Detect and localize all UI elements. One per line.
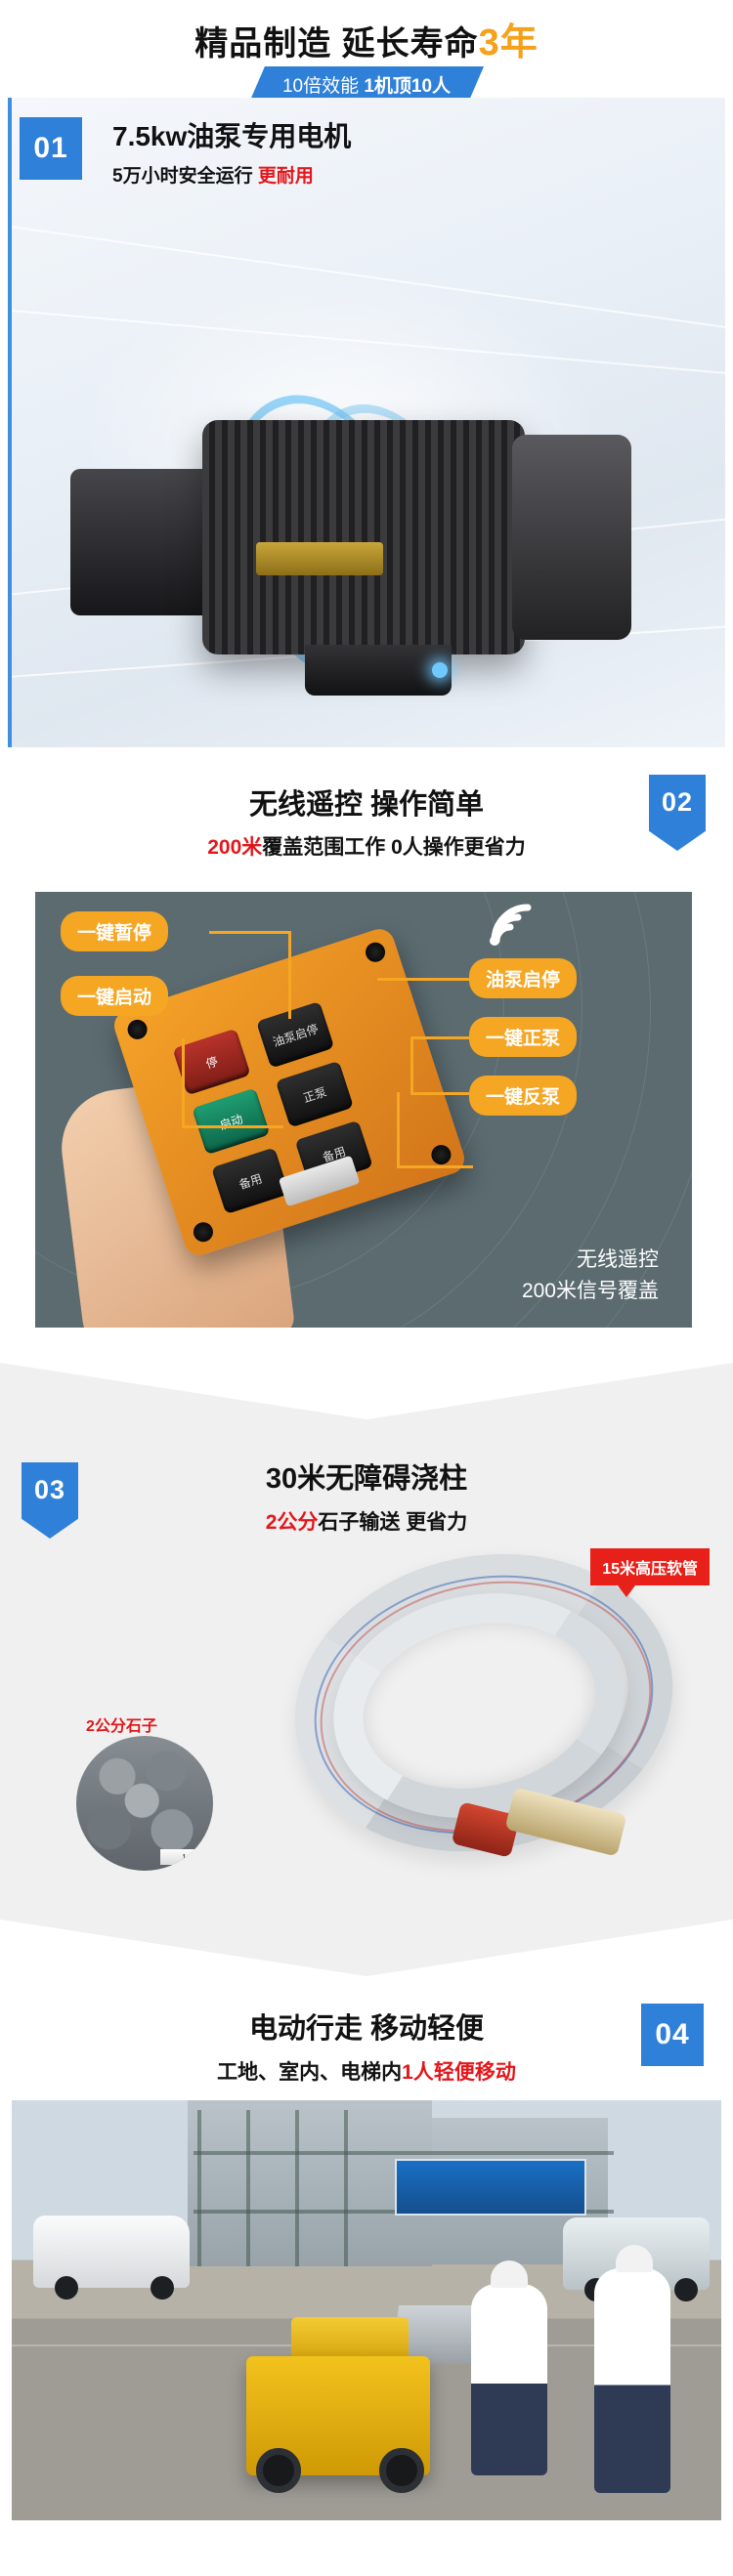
section-badge-04: 04 (641, 2004, 704, 2066)
motor-mount-foot (305, 645, 452, 696)
ruler-mark-1: 1 (182, 1853, 186, 1862)
callout-leader (397, 1092, 400, 1168)
gravel-photo: 1 2 (76, 1736, 213, 1871)
section-03-subheading: 2公分石子输送 更省力 (0, 1506, 733, 1536)
machine-wheel (256, 2448, 301, 2493)
motor-product-photo (8, 98, 725, 747)
page-title-accent: 3年 (479, 22, 539, 63)
callout-start: 一键启动 (61, 976, 168, 1016)
remote-control-photo: 停 油泵启停 启动 正泵 备用 备用 一键暂停 一键启动 油泵启停 一键正泵 一… (35, 892, 692, 1328)
section-01: 01 7.5kw油泵专用电机 5万小时安全运行 更耐用 (0, 98, 733, 747)
scaffolding-pole (197, 2110, 201, 2266)
callout-leader (288, 931, 291, 1019)
wifi-signal-icon (485, 898, 545, 949)
remote-photo-caption: 无线遥控 200米信号覆盖 (522, 1245, 659, 1306)
scaffolding-rail (194, 2151, 614, 2155)
header-banner-part1: 10倍效能 (282, 76, 359, 97)
header-banner-part2: 1机顶10人 (364, 76, 451, 97)
jobsite-photo (12, 2100, 721, 2520)
decor-sweep-line (8, 215, 725, 380)
screw-icon (363, 940, 387, 964)
callout-leader (410, 1036, 473, 1039)
section-03-sub-plain: 石子输送 更省力 (318, 1511, 467, 1534)
car-wheel (674, 2278, 698, 2302)
section-03-text: 30米无障碍浇柱 2公分石子输送 更省力 (0, 1456, 733, 1536)
screw-icon (429, 1143, 453, 1167)
oil-pump-unit (70, 469, 219, 615)
callout-reverse-pump: 一键反泵 (469, 1076, 577, 1116)
gravel-label: 2公分石子 (86, 1712, 157, 1736)
page-title: 精品制造 延长寿命3年 (0, 12, 733, 65)
remote-button-start[interactable]: 启动 (192, 1088, 270, 1156)
callout-leader (182, 1125, 283, 1128)
section-02: 无线遥控 操作简单 200米覆盖范围工作 0人操作更省力 02 停 油泵启停 (0, 747, 733, 1363)
callout-leader (410, 1036, 413, 1095)
section-badge-01: 01 (20, 117, 82, 180)
callout-leader (182, 1038, 185, 1128)
screw-icon (191, 1220, 215, 1245)
worker-figure (471, 2284, 547, 2475)
scaffolding-pole (295, 2110, 299, 2266)
callout-pause: 一键暂停 (61, 911, 168, 951)
gravel-ruler: 1 2 (160, 1849, 213, 1865)
section-03-sub-red: 2公分 (266, 1511, 319, 1534)
van-wheel (55, 2276, 78, 2300)
callout-leader (410, 1092, 473, 1095)
section-04-sub-red: 1人轻便移动 (402, 2061, 516, 2084)
site-safety-banner (395, 2159, 586, 2216)
screw-icon (125, 1017, 150, 1041)
section-04-subheading: 工地、室内、电梯内1人轻便移动 (0, 2056, 733, 2086)
callout-leader (377, 978, 473, 981)
section-01-heading: 7.5kw油泵专用电机 (112, 115, 351, 154)
scaffolding-pole (246, 2110, 250, 2266)
hose-length-badge: 15米高压软管 (590, 1548, 710, 1585)
section-01-sub-plain: 5万小时安全运行 (112, 166, 258, 187)
section-divider-notch (0, 1920, 733, 1976)
section-02-sub-plain: 覆盖范围工作 0人操作更省力 (262, 836, 526, 859)
page-header: 精品制造 延长寿命3年 10倍效能 1机顶10人 (0, 0, 733, 93)
section-divider-notch (0, 1363, 733, 1419)
section-04-heading: 电动行走 移动轻便 (0, 2006, 733, 2047)
section-03-heading: 30米无障碍浇柱 (0, 1456, 733, 1497)
remote-button-forward[interactable]: 正泵 (276, 1061, 354, 1128)
section-01-text: 7.5kw油泵专用电机 5万小时安全运行 更耐用 (112, 115, 351, 188)
section-03: 03 30米无障碍浇柱 2公分石子输送 更省力 15米高压软管 2公分石子 1 … (0, 1363, 733, 1920)
motor-housing (202, 420, 525, 655)
section-01-sub-red: 更耐用 (258, 166, 314, 187)
motor-indicator-led-icon (432, 662, 448, 678)
motor-nameplate (256, 542, 383, 575)
decor-sweep-line (8, 303, 725, 407)
section-04-sub-plain: 工地、室内、电梯内 (217, 2061, 402, 2084)
section-02-subheading: 200米覆盖范围工作 0人操作更省力 (0, 831, 733, 861)
section-04: 电动行走 移动轻便 工地、室内、电梯内1人轻便移动 04 (0, 1920, 733, 2576)
remote-button-spare-1[interactable]: 备用 (211, 1147, 289, 1214)
scaffolding-pole (344, 2110, 348, 2266)
callout-leader (209, 931, 291, 934)
van-wheel (151, 2276, 174, 2300)
worker-helmet-icon (491, 2260, 528, 2288)
motor-end-cap (512, 435, 631, 640)
callout-leader (397, 1165, 473, 1168)
section-02-text: 无线遥控 操作简单 200米覆盖范围工作 0人操作更省力 (0, 781, 733, 861)
section-01-subheading: 5万小时安全运行 更耐用 (112, 161, 351, 188)
callout-forward-pump: 一键正泵 (469, 1017, 577, 1057)
section-04-text: 电动行走 移动轻便 工地、室内、电梯内1人轻便移动 (0, 2006, 733, 2086)
remote-button-pump-toggle[interactable]: 油泵启停 (256, 1001, 334, 1069)
worker-figure (594, 2268, 670, 2493)
hose-and-gravel-photo: 15米高压软管 2公分石子 1 2 (0, 1539, 733, 1900)
machine-wheel (379, 2448, 424, 2493)
section-02-sub-red: 200米 (207, 836, 262, 859)
caption-line-2: 200米信号覆盖 (522, 1276, 659, 1307)
section-02-heading: 无线遥控 操作简单 (0, 781, 733, 823)
page-title-main: 精品制造 延长寿命 (194, 25, 478, 63)
caption-line-1: 无线遥控 (522, 1245, 659, 1276)
callout-pump-toggle: 油泵启停 (469, 958, 577, 998)
